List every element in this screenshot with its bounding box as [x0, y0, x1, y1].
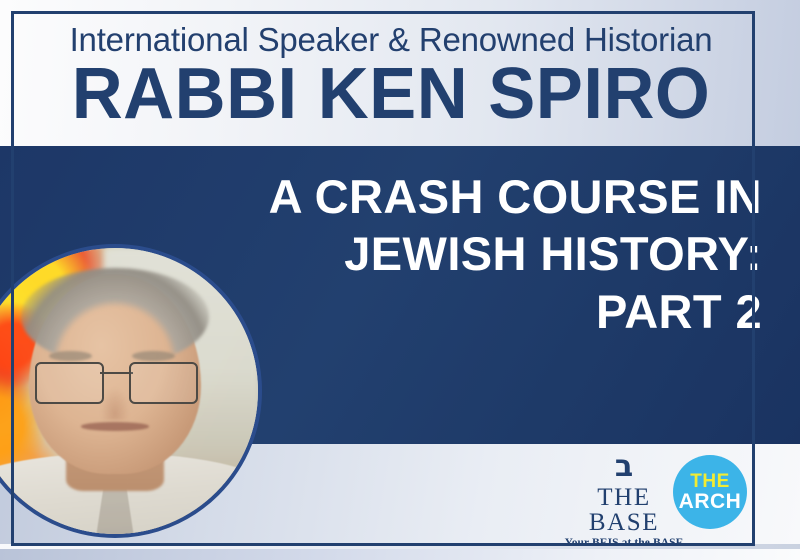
glasses-lens-right: [129, 362, 198, 403]
the-arch-logo: THE ARCH: [673, 455, 747, 529]
portrait-eyebrow-right: [132, 351, 175, 361]
the-base-logo: ב THE BASE Your BEIS at the BASE: [560, 452, 688, 550]
portrait-nose: [101, 388, 130, 419]
speaker-portrait-avatar: [0, 244, 262, 538]
glasses-bridge: [100, 372, 133, 374]
the-base-logo-tagline: Your BEIS at the BASE: [560, 538, 688, 550]
the-base-logo-name: THE BASE: [560, 485, 688, 535]
the-arch-logo-arch: ARCH: [679, 491, 742, 512]
portrait-hair: [21, 268, 210, 365]
portrait-mouth: [81, 422, 150, 431]
title-line-1: A CRASH COURSE IN: [162, 168, 762, 225]
the-arch-logo-the: THE: [690, 472, 730, 491]
glasses-lens-left: [35, 362, 104, 403]
bottom-edge-band: [0, 549, 800, 560]
promo-poster: International Speaker & Renowned Histori…: [0, 0, 800, 560]
speaker-name-heading: RABBI KEN SPIRO: [37, 58, 745, 130]
speaker-kicker-text: International Speaker & Renowned Histori…: [34, 23, 748, 56]
hebrew-bet-icon: ב: [560, 452, 688, 482]
portrait-eyebrow-left: [49, 351, 92, 361]
